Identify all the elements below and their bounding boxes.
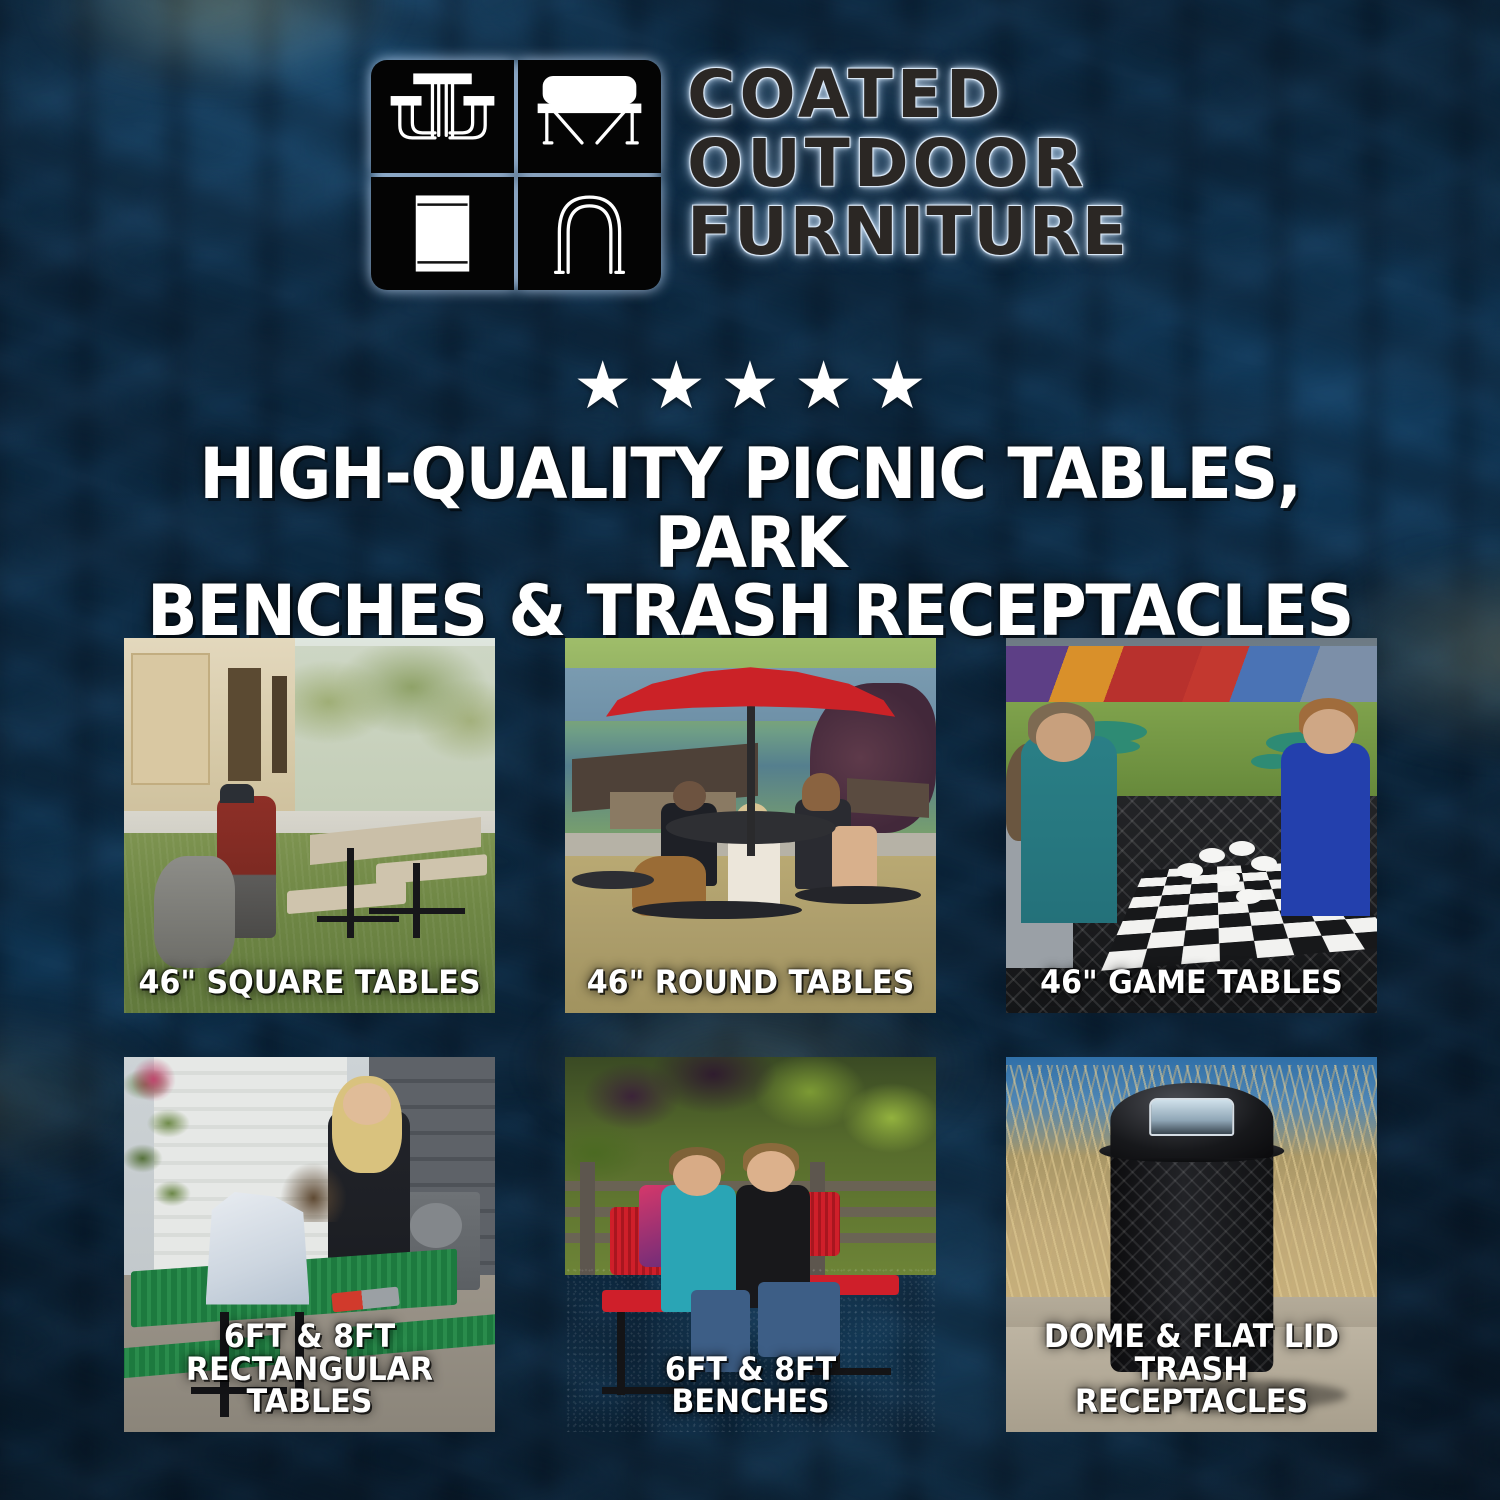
brand-header: COATED OUTDOOR FURNITURE bbox=[0, 60, 1500, 290]
trash-receptacle-icon bbox=[371, 177, 514, 290]
wordmark-line-2: OUTDOOR bbox=[687, 133, 1129, 196]
caption-line-1: 46" ROUND TABLES bbox=[587, 963, 915, 1001]
product-photo-square-tables bbox=[124, 638, 495, 1013]
product-card-rectangular-tables[interactable]: 6FT & 8FT RECTANGULAR TABLES bbox=[124, 1057, 495, 1432]
park-bench-icon bbox=[518, 60, 661, 173]
caption-line-2: TRASH RECEPTACLES bbox=[1017, 1353, 1366, 1418]
brand-wordmark: COATED OUTDOOR FURNITURE bbox=[687, 60, 1129, 270]
product-photo-round-tables bbox=[565, 638, 936, 1013]
star-icon: ★ bbox=[573, 352, 632, 418]
star-rating: ★ ★ ★ ★ ★ bbox=[0, 352, 1500, 418]
caption-line-1: 46" SQUARE TABLES bbox=[139, 963, 481, 1001]
product-caption-benches: 6FT & 8FT BENCHES bbox=[576, 1353, 925, 1418]
star-icon: ★ bbox=[868, 352, 927, 418]
product-caption-trash-receptacles: DOME & FLAT LID TRASH RECEPTACLES bbox=[1017, 1320, 1366, 1418]
headline-line-2: BENCHES & TRASH RECEPTACLES bbox=[104, 577, 1396, 646]
product-photo-game-tables bbox=[1006, 638, 1377, 1013]
star-icon: ★ bbox=[720, 352, 779, 418]
product-caption-rectangular-tables: 6FT & 8FT RECTANGULAR TABLES bbox=[135, 1320, 484, 1418]
product-card-round-tables[interactable]: 46" ROUND TABLES bbox=[565, 638, 936, 1013]
product-card-benches[interactable]: 6FT & 8FT BENCHES bbox=[565, 1057, 936, 1432]
caption-line-1: 46" GAME TABLES bbox=[1040, 963, 1343, 1001]
promo-banner: COATED OUTDOOR FURNITURE ★ ★ ★ ★ ★ HIGH-… bbox=[0, 0, 1500, 1500]
caption-line-2: RECTANGULAR TABLES bbox=[135, 1353, 484, 1418]
headline-line-1: HIGH-QUALITY PICNIC TABLES, PARK bbox=[104, 440, 1396, 577]
product-grid: 46" SQUARE TABLES bbox=[124, 638, 1376, 1432]
product-caption-square-tables: 46" SQUARE TABLES bbox=[135, 966, 484, 999]
wordmark-line-1: COATED bbox=[687, 64, 1129, 127]
star-icon: ★ bbox=[647, 352, 706, 418]
product-caption-game-tables: 46" GAME TABLES bbox=[1017, 966, 1366, 999]
product-card-square-tables[interactable]: 46" SQUARE TABLES bbox=[124, 638, 495, 1013]
wordmark-line-3: FURNITURE bbox=[687, 201, 1129, 264]
picnic-table-icon bbox=[371, 60, 514, 173]
brand-logo-mark bbox=[371, 60, 661, 290]
product-card-trash-receptacles[interactable]: DOME & FLAT LID TRASH RECEPTACLES bbox=[1006, 1057, 1377, 1432]
product-card-game-tables[interactable]: 46" GAME TABLES bbox=[1006, 638, 1377, 1013]
headline: HIGH-QUALITY PICNIC TABLES, PARK BENCHES… bbox=[104, 440, 1396, 646]
bike-rack-icon bbox=[518, 177, 661, 290]
product-caption-round-tables: 46" ROUND TABLES bbox=[576, 966, 925, 999]
caption-line-2: BENCHES bbox=[576, 1385, 925, 1418]
star-icon: ★ bbox=[794, 352, 853, 418]
